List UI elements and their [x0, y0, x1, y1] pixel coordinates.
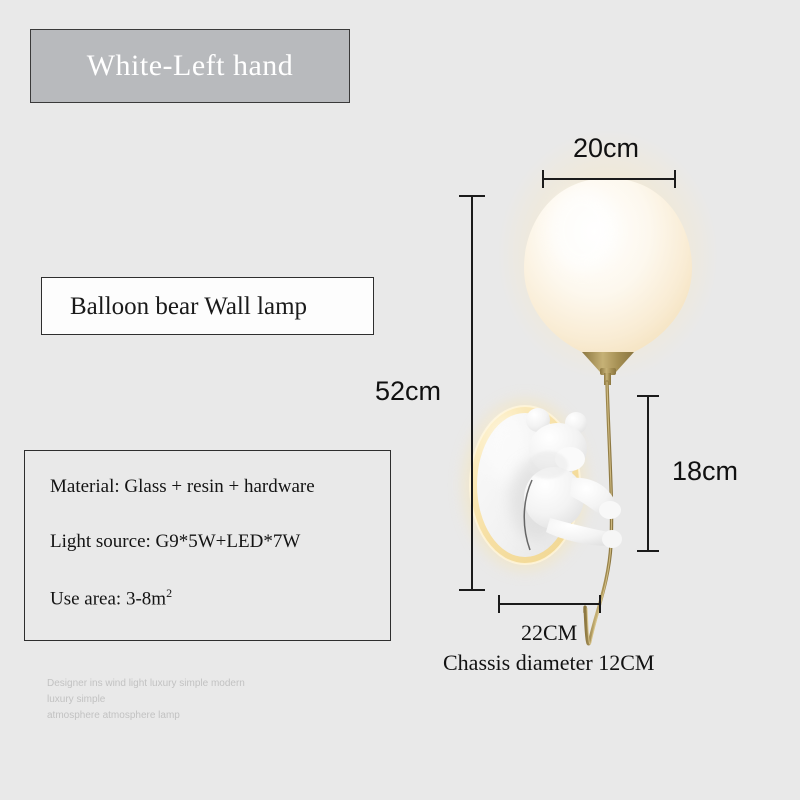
fine-print: Designer ins wind light luxury simple mo…	[47, 676, 347, 724]
dimension-tick-18cm-top	[637, 395, 659, 397]
fine-print-line-2: luxury simple	[47, 692, 347, 708]
variant-badge: White-Left hand	[30, 29, 350, 103]
product-spec-image: White-Left hand Balloon bear Wall lamp M…	[0, 0, 800, 800]
dimension-tick-22cm-right	[599, 595, 601, 613]
spec-material: Material: Glass + resin + hardware	[50, 477, 390, 496]
dimension-label-rod-drop: 18cm	[672, 458, 738, 485]
fine-print-line-1: Designer ins wind light luxury simple mo…	[47, 676, 347, 692]
dimension-label-balloon-width: 20cm	[573, 135, 639, 162]
dimension-tick-20cm-left	[542, 170, 544, 188]
spec-use-area: Use area: 3-8m2	[50, 587, 390, 608]
dimension-tick-52cm-bottom	[459, 589, 485, 591]
dimension-line-22cm	[498, 603, 601, 605]
dimension-tick-20cm-right	[674, 170, 676, 188]
specifications-box: Material: Glass + resin + hardware Light…	[24, 450, 391, 641]
fine-print-line-3: atmosphere atmosphere lamp	[47, 708, 347, 724]
dimension-label-chassis: Chassis diameter 12CM	[443, 652, 654, 674]
dimension-label-total-height: 52cm	[375, 378, 441, 405]
dimension-line-18cm	[647, 395, 649, 552]
dimension-tick-52cm-top	[459, 195, 485, 197]
variant-label: White-Left hand	[87, 51, 294, 81]
spec-use-area-superscript: 2	[166, 586, 172, 600]
product-illustration	[430, 120, 790, 680]
spec-light-source: Light source: G9*5W+LED*7W	[50, 532, 390, 551]
dimension-line-20cm	[542, 178, 676, 180]
product-name-label: Balloon bear Wall lamp	[42, 294, 307, 319]
dimension-tick-22cm-left	[498, 595, 500, 613]
dimension-label-backplate-height: 22CM	[521, 622, 577, 644]
dimension-tick-18cm-bottom	[637, 550, 659, 552]
dimension-line-52cm	[471, 195, 473, 591]
spec-use-area-text: Use area: 3-8m	[50, 588, 166, 609]
product-name-box: Balloon bear Wall lamp	[41, 277, 374, 335]
